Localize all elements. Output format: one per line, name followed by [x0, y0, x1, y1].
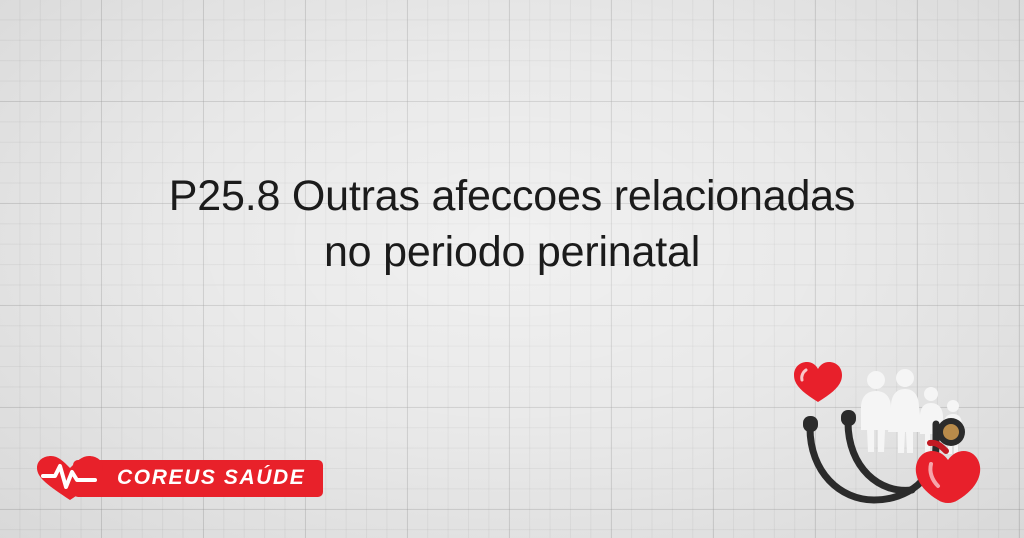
title-line-2: no periodo perinatal — [34, 224, 990, 280]
heart-with-pulse-icon — [33, 454, 107, 502]
poster-canvas: P25.8 Outras afeccoes relacionadas no pe… — [0, 0, 1024, 538]
stethoscope-chestpiece — [937, 418, 965, 446]
brand-badge: COREUS SAÚDE — [33, 454, 323, 502]
page-title: P25.8 Outras afeccoes relacionadas no pe… — [0, 168, 1024, 280]
medical-illustration — [788, 350, 1018, 530]
brand-name-label: COREUS SAÚDE — [73, 460, 323, 497]
heart-icon — [794, 362, 842, 402]
title-line-1: P25.8 Outras afeccoes relacionadas — [34, 168, 990, 224]
